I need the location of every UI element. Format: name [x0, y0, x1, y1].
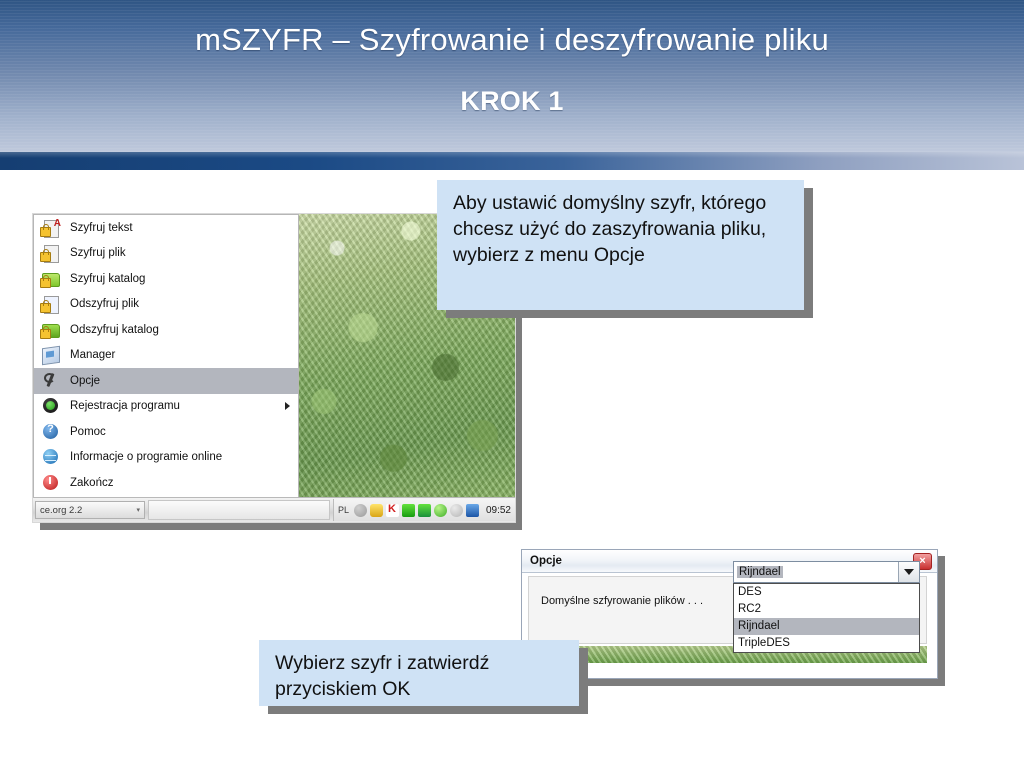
- blue-book-icon[interactable]: [466, 504, 479, 517]
- callout-instruction-confirm: Wybierz szyfr i zatwierdź przyciskiem OK: [259, 640, 579, 706]
- taskbar-task-button[interactable]: ce.org 2.2 ▾: [35, 501, 145, 519]
- cipher-option-tripledes[interactable]: TripleDES: [734, 635, 919, 652]
- menu-item-informacje-online[interactable]: Informacje o programie online: [34, 445, 298, 471]
- dialog-title: Opcje: [530, 555, 562, 567]
- menu-item-szyfruj-katalog[interactable]: Szyfruj katalog: [34, 266, 298, 292]
- page-subtitle: KROK 1: [0, 86, 1024, 117]
- mszyfr-context-menu[interactable]: A Szyfruj tekst Szyfruj plik Szyfruj kat…: [33, 214, 299, 498]
- menu-item-szyfruj-plik[interactable]: Szyfruj plik: [34, 241, 298, 267]
- power-icon: [40, 474, 62, 492]
- callout-instruction-menu: Aby ustawić domyślny szyfr, którego chce…: [437, 180, 804, 310]
- menu-item-odszyfruj-plik[interactable]: Odszyfruj plik: [34, 292, 298, 318]
- default-cipher-label: Domyślne szfyrowanie plików . . .: [541, 595, 703, 607]
- globe-icon: [40, 448, 62, 466]
- menu-item-odszyfruj-katalog[interactable]: Odszyfruj katalog: [34, 317, 298, 343]
- wrench-icon: [40, 372, 62, 390]
- coin-icon[interactable]: [370, 504, 383, 517]
- menu-item-manager[interactable]: Manager: [34, 343, 298, 369]
- manager-icon: [40, 346, 62, 364]
- lock-folder-icon: [40, 270, 62, 288]
- volume-icon[interactable]: [354, 504, 367, 517]
- page-title: mSZYFR – Szyfrowanie i deszyfrowanie pli…: [0, 22, 1024, 58]
- lock-file-icon: [40, 244, 62, 262]
- cipher-select-options[interactable]: DES RC2 Rijndael TripleDES: [733, 583, 920, 653]
- green-monitor-icon[interactable]: [402, 504, 415, 517]
- kaspersky-k-icon[interactable]: [386, 504, 399, 517]
- cipher-select-value: Rijndael: [737, 566, 783, 578]
- menu-item-rejestracja-programu[interactable]: Rejestracja programu: [34, 394, 298, 420]
- green-network-icon[interactable]: [418, 504, 431, 517]
- chevron-down-icon: ▾: [136, 506, 140, 514]
- cipher-option-rc2[interactable]: RC2: [734, 601, 919, 618]
- taskbar-clock[interactable]: 09:52: [486, 505, 511, 516]
- unlock-file-icon: [40, 295, 62, 313]
- windows-taskbar: ce.org 2.2 ▾ PL 09:52: [33, 497, 515, 522]
- cipher-option-rijndael[interactable]: Rijndael: [734, 618, 919, 635]
- menu-item-opcje[interactable]: Opcje: [34, 368, 298, 394]
- chevron-down-icon[interactable]: [898, 562, 919, 582]
- unlock-folder-icon: [40, 321, 62, 339]
- submenu-arrow-icon: [285, 402, 290, 410]
- system-tray[interactable]: PL 09:52: [333, 499, 515, 521]
- cipher-option-des[interactable]: DES: [734, 584, 919, 601]
- cipher-select[interactable]: Rijndael: [733, 561, 920, 583]
- menu-item-zakoncz[interactable]: Zakończ: [34, 470, 298, 496]
- lock-text-icon: A: [40, 219, 62, 237]
- taskbar-task-label: ce.org 2.2: [40, 505, 82, 516]
- language-indicator[interactable]: PL: [338, 505, 349, 515]
- menu-item-szyfruj-tekst[interactable]: A Szyfruj tekst: [34, 215, 298, 241]
- shield-icon[interactable]: [450, 504, 463, 517]
- green-check-icon[interactable]: [434, 504, 447, 517]
- menu-item-pomoc[interactable]: Pomoc: [34, 419, 298, 445]
- taskbar-empty-area[interactable]: [148, 500, 330, 520]
- slide-header-rule-gloss: [0, 152, 1024, 158]
- help-question-icon: [40, 423, 62, 441]
- green-check-icon: [40, 397, 62, 415]
